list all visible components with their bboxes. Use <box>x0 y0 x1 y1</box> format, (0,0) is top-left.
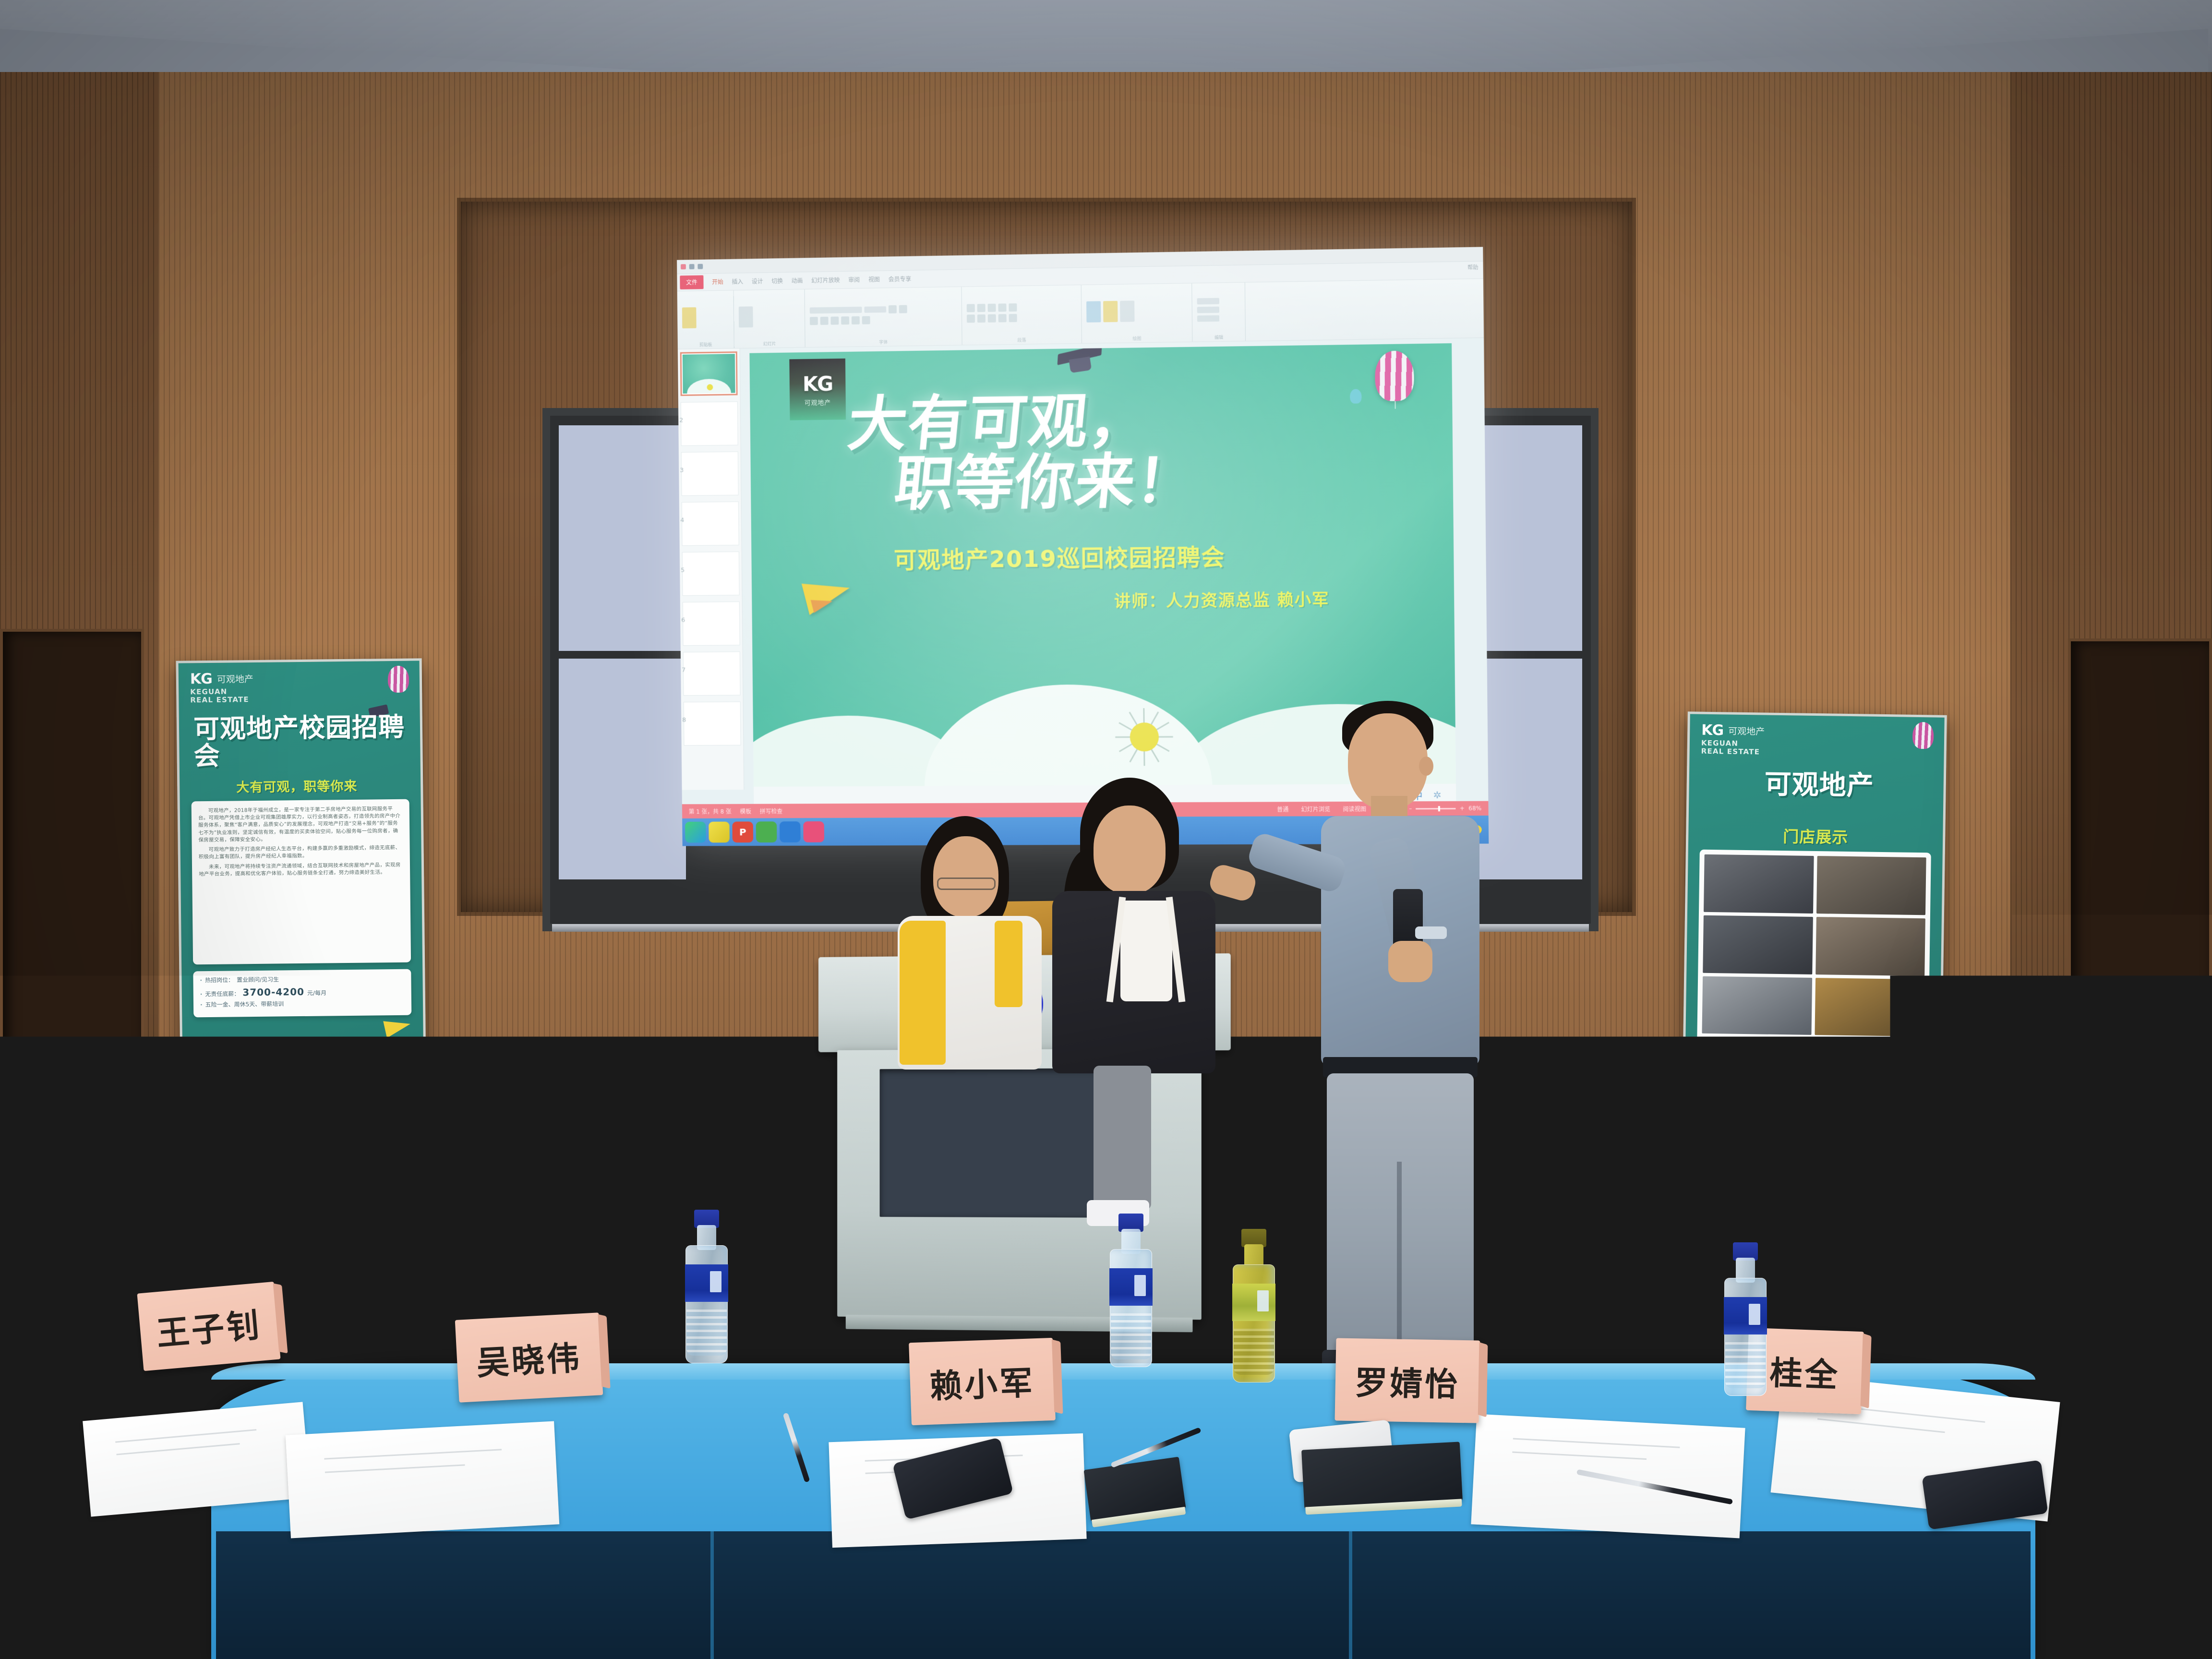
store-photo <box>1816 856 1926 915</box>
ribbon-group-clipboard[interactable]: 剪贴板 <box>677 290 734 349</box>
whiteboard-panel <box>559 659 686 879</box>
slide-thumbnail-6[interactable]: 6 <box>683 601 740 646</box>
ribbon-group-label: 编辑 <box>1192 334 1245 341</box>
tab-transition[interactable]: 切换 <box>771 277 783 285</box>
justify-icon[interactable] <box>998 314 1007 322</box>
balloon-icon <box>1912 722 1934 749</box>
banner-slogan: 大有可观，职等你来 <box>236 776 357 796</box>
banner-en-line2: REAL ESTATE <box>1701 747 1760 756</box>
banner-company-description: 可观地产，2018年于福州成立，是一家专注于第二手房地产交易的互联网服务平台。可… <box>192 799 411 965</box>
name-card-wu-xiaowei: 吴晓伟 <box>455 1312 603 1402</box>
ribbon-group-editing[interactable]: 编辑 <box>1192 283 1246 342</box>
banner-paragraph-3: 未来，可观地产将持续专注资产流通领域，结合互联网技术和房屋地产产品，实现房地产平… <box>199 861 403 878</box>
slide-presenter-line: 讲师：人力资源总监 赖小军 <box>1114 586 1330 612</box>
shape-fill-icon[interactable] <box>1103 301 1118 322</box>
small-balloon-icon <box>1350 389 1362 403</box>
logo-mark: KG <box>190 671 212 687</box>
slide-number: 3 <box>680 467 684 474</box>
paper-plane-icon <box>802 572 854 615</box>
decrease-font-icon[interactable] <box>899 305 907 313</box>
leg <box>1094 1066 1151 1210</box>
slide-title-line2: 职等你来！ <box>892 450 1277 515</box>
hair <box>0 1046 120 1205</box>
recruitment-banner-left: KG 可观地产 KEGUAN REAL ESTATE 可观地产校园招聘会 大有可… <box>176 658 427 1164</box>
security-icon[interactable] <box>780 821 801 842</box>
fact-label: 无责任底薪： <box>205 990 240 999</box>
banner-en-line2: REAL ESTATE <box>190 696 249 704</box>
banner-paragraph-1: 可观地产，2018年于福州成立，是一家专注于第二手房地产交易的互联网服务平台。可… <box>198 805 403 844</box>
face <box>1094 805 1166 894</box>
name-card-label: 桂全 <box>1769 1346 1840 1396</box>
outdent-icon[interactable] <box>998 303 1006 312</box>
ribbon-group-slides[interactable]: 幻灯片 <box>734 289 805 348</box>
strikethrough-icon[interactable] <box>841 316 849 325</box>
indent-icon[interactable] <box>988 304 996 312</box>
plastic-stool-left[interactable] <box>465 1051 589 1171</box>
banner-title: 可观地产校园招聘会 <box>193 714 412 770</box>
font-color-icon[interactable] <box>862 316 870 324</box>
water-bottle[interactable] <box>1724 1242 1767 1396</box>
align-right-icon[interactable] <box>988 314 996 323</box>
tab-animation[interactable]: 动画 <box>792 276 803 285</box>
yellow-vest-strap <box>995 921 1022 1007</box>
numbered-list-icon[interactable] <box>977 304 986 312</box>
increase-font-icon[interactable] <box>889 305 897 313</box>
fact-value: 五险一金、周休5天、带薪培训 <box>205 1000 284 1010</box>
fact-salary: 无责任底薪： 3700-4200 元/每月 <box>200 983 405 1000</box>
paper-plane-icon <box>383 1015 412 1038</box>
new-slide-icon[interactable] <box>739 306 753 327</box>
select-icon[interactable] <box>1197 315 1219 322</box>
name-card-label: 赖小军 <box>929 1356 1035 1407</box>
ribbon-group-label: 剪贴板 <box>678 341 734 348</box>
paper-stack[interactable] <box>83 1402 311 1516</box>
logo-mark: KG <box>1701 722 1723 739</box>
font-size-select[interactable] <box>864 306 886 313</box>
store-photo <box>1704 854 1814 914</box>
salary-suffix: 元/每月 <box>307 989 326 998</box>
water-bottle[interactable] <box>1110 1214 1152 1367</box>
store-photo <box>1815 978 1924 1037</box>
yellow-vest <box>900 921 946 1065</box>
name-card-label: 罗婧怡 <box>1355 1356 1461 1406</box>
view-normal[interactable]: 普通 <box>1277 805 1288 813</box>
slide-number: 6 <box>681 617 685 624</box>
name-card-lai-xiaojun: 赖小军 <box>909 1338 1056 1425</box>
find-icon[interactable] <box>1197 298 1219 305</box>
ribbon-group-label: 字体 <box>805 337 962 346</box>
water-bottle[interactable] <box>0 1190 36 1343</box>
tea-bottle[interactable] <box>1233 1229 1275 1382</box>
fact-label: 热招岗位： <box>205 975 234 985</box>
logo-mark: KG <box>803 372 833 396</box>
slide-number: 4 <box>680 517 684 524</box>
store-photo <box>1701 1037 1811 1096</box>
fact-value: 置业顾问/见习生 <box>237 975 279 985</box>
ribbon-toolbar[interactable]: 剪贴板 幻灯片 字体 <box>677 279 1484 349</box>
status-spellcheck[interactable]: 拼写检查 <box>760 807 782 815</box>
italic-icon[interactable] <box>820 317 829 325</box>
paper-stack[interactable] <box>286 1421 559 1538</box>
blouse <box>1120 901 1172 1001</box>
name-card-luo-jingyi: 罗婧怡 <box>1335 1338 1480 1423</box>
glasses-icon <box>937 878 996 890</box>
tab-insert[interactable]: 插入 <box>732 277 743 286</box>
underline-icon[interactable] <box>830 316 839 325</box>
assistant-person <box>912 816 1056 1085</box>
hot-air-balloon-icon <box>1375 350 1414 401</box>
graduation-cap-icon <box>1057 349 1102 376</box>
music-icon[interactable] <box>803 821 824 842</box>
explorer-icon[interactable] <box>709 822 730 843</box>
slide-thumbnail-2[interactable]: 2 <box>681 401 738 446</box>
tab-review[interactable]: 审阅 <box>848 276 860 284</box>
right-hand <box>1388 941 1432 982</box>
slide-thumbnail-3[interactable]: 3 <box>681 451 739 496</box>
lecture-hall-scene: 文件 开始 插入 设计 切换 动画 幻灯片放映 审阅 视图 会员专享 帮助 剪贴… <box>0 0 2212 1659</box>
slide-thumbnail-panel[interactable]: 2 3 4 5 6 7 8 <box>678 349 745 790</box>
bold-icon[interactable] <box>810 317 818 325</box>
slide-thumbnail-8[interactable]: 8 <box>684 701 741 745</box>
font-family-select[interactable] <box>810 307 862 314</box>
banner-job-facts: 热招岗位： 置业顾问/见习生 无责任底薪： 3700-4200 元/每月 五险一… <box>193 969 411 1018</box>
slide-thumbnail-4[interactable]: 4 <box>682 502 739 546</box>
balloon-icon <box>388 666 409 693</box>
ear <box>1419 757 1433 776</box>
whiteboard-panel <box>559 425 686 651</box>
wristwatch <box>1415 926 1447 939</box>
shapes-icon[interactable] <box>1086 301 1101 322</box>
slide-number: 2 <box>679 417 683 424</box>
face <box>933 836 998 917</box>
plastic-stool-right[interactable] <box>1540 1090 1665 1210</box>
replace-icon[interactable] <box>1197 307 1219 313</box>
water-bottle[interactable] <box>365 1182 407 1335</box>
save-icon[interactable] <box>681 264 686 269</box>
banner-english-name: KEGUAN REAL ESTATE <box>1701 739 1760 756</box>
ribbon-group-label: 绘图 <box>1082 335 1192 342</box>
slide-thumbnail-1[interactable] <box>680 351 738 396</box>
tab-member[interactable]: 会员专享 <box>888 275 911 284</box>
slide-number: 8 <box>682 717 686 724</box>
ribbon-group-label: 段落 <box>962 336 1081 344</box>
ribbon-group-label: 幻灯片 <box>734 340 805 347</box>
shape-outline-icon[interactable] <box>1120 301 1134 322</box>
store-photo <box>1703 915 1813 974</box>
line-spacing-icon[interactable] <box>1009 303 1017 312</box>
water-bottle[interactable] <box>685 1210 728 1363</box>
redo-icon[interactable] <box>697 264 703 269</box>
ribbon-group-paragraph[interactable]: 段落 <box>962 285 1082 345</box>
undo-icon[interactable] <box>689 264 695 269</box>
slide-title: 大有可观， 职等你来！ <box>840 389 1283 516</box>
name-card-label: 王子钊 <box>155 1298 264 1355</box>
slide-number: 5 <box>681 567 685 574</box>
store-photo-grid <box>1696 850 1931 1103</box>
paste-icon[interactable] <box>682 307 697 328</box>
staff-person <box>1069 778 1227 1114</box>
keguan-logo: KG 可观地产 <box>789 359 846 421</box>
wechat-icon[interactable] <box>756 821 777 842</box>
sunflower-icon <box>1115 708 1173 766</box>
slide-subtitle: 可观地产2019巡回校园招聘会 <box>894 538 1226 575</box>
tab-design[interactable]: 设计 <box>752 277 763 285</box>
align-center-icon[interactable] <box>977 314 986 323</box>
tab-slideshow[interactable]: 幻灯片放映 <box>811 276 840 285</box>
tab-file[interactable]: 文件 <box>680 275 703 289</box>
bullet-list-icon[interactable] <box>967 304 975 312</box>
banner-title: 可观地产 <box>1703 770 1935 801</box>
banner-english-name: KEGUAN REAL ESTATE <box>190 687 249 704</box>
banner-logo: KG 可观地产 <box>1701 722 1765 740</box>
align-left-icon[interactable] <box>967 314 975 323</box>
logo-chinese-name: 可观地产 <box>217 672 253 685</box>
banner-paragraph-2: 可观地产致力于打造房产经纪人生态平台，构建多赢的多重激励模式，缔造无底薪、积极向… <box>199 844 403 861</box>
leg-separation <box>1397 1162 1402 1358</box>
logo-chinese-name: 可观地产 <box>1728 724 1765 737</box>
fact-benefits: 五险一金、周休5天、带薪培训 <box>200 998 405 1010</box>
banner-slogan: 门店展示 <box>1688 822 1943 849</box>
slide-thumbnail-5[interactable]: 5 <box>682 552 740 596</box>
store-photo <box>1815 917 1925 976</box>
table-skirt-seam <box>1349 1531 1352 1659</box>
table-skirt <box>216 1531 2031 1659</box>
columns-icon[interactable] <box>1009 314 1017 322</box>
slide-number: 7 <box>682 667 685 674</box>
powerpoint-icon[interactable]: P <box>732 821 753 842</box>
table-skirt-seam <box>710 1531 714 1659</box>
water-bottle[interactable] <box>1540 1206 1582 1359</box>
status-slide-count: 第 1 张，共 8 张 <box>689 807 732 815</box>
shadow-icon[interactable] <box>852 316 860 325</box>
ribbon-help-label[interactable]: 帮助 <box>1467 264 1479 271</box>
slide-thumbnail-7[interactable]: 7 <box>683 651 741 696</box>
salary-range: 3700-4200 <box>242 984 304 1000</box>
status-template[interactable]: 模板 <box>740 807 751 815</box>
store-photo <box>1702 976 1812 1035</box>
logo-chinese-name: 可观地产 <box>805 397 831 407</box>
banner-logo: KG 可观地产 <box>190 670 253 687</box>
tab-view[interactable]: 视图 <box>868 276 880 284</box>
ribbon-group-drawing[interactable]: 绘图 <box>1082 283 1193 343</box>
tab-home[interactable]: 开始 <box>712 278 723 286</box>
name-card-label: 吴晓伟 <box>475 1331 583 1384</box>
name-card-wang-zizhao: 王子钊 <box>137 1282 280 1371</box>
face <box>1348 713 1428 809</box>
presenter-person <box>1325 701 1527 1373</box>
notebook[interactable] <box>1301 1442 1463 1508</box>
slide-thumbnail-preview <box>683 354 735 394</box>
ribbon-group-font[interactable]: 字体 <box>805 287 962 347</box>
browser-icon[interactable] <box>685 822 706 843</box>
store-photo <box>1814 1038 1923 1097</box>
